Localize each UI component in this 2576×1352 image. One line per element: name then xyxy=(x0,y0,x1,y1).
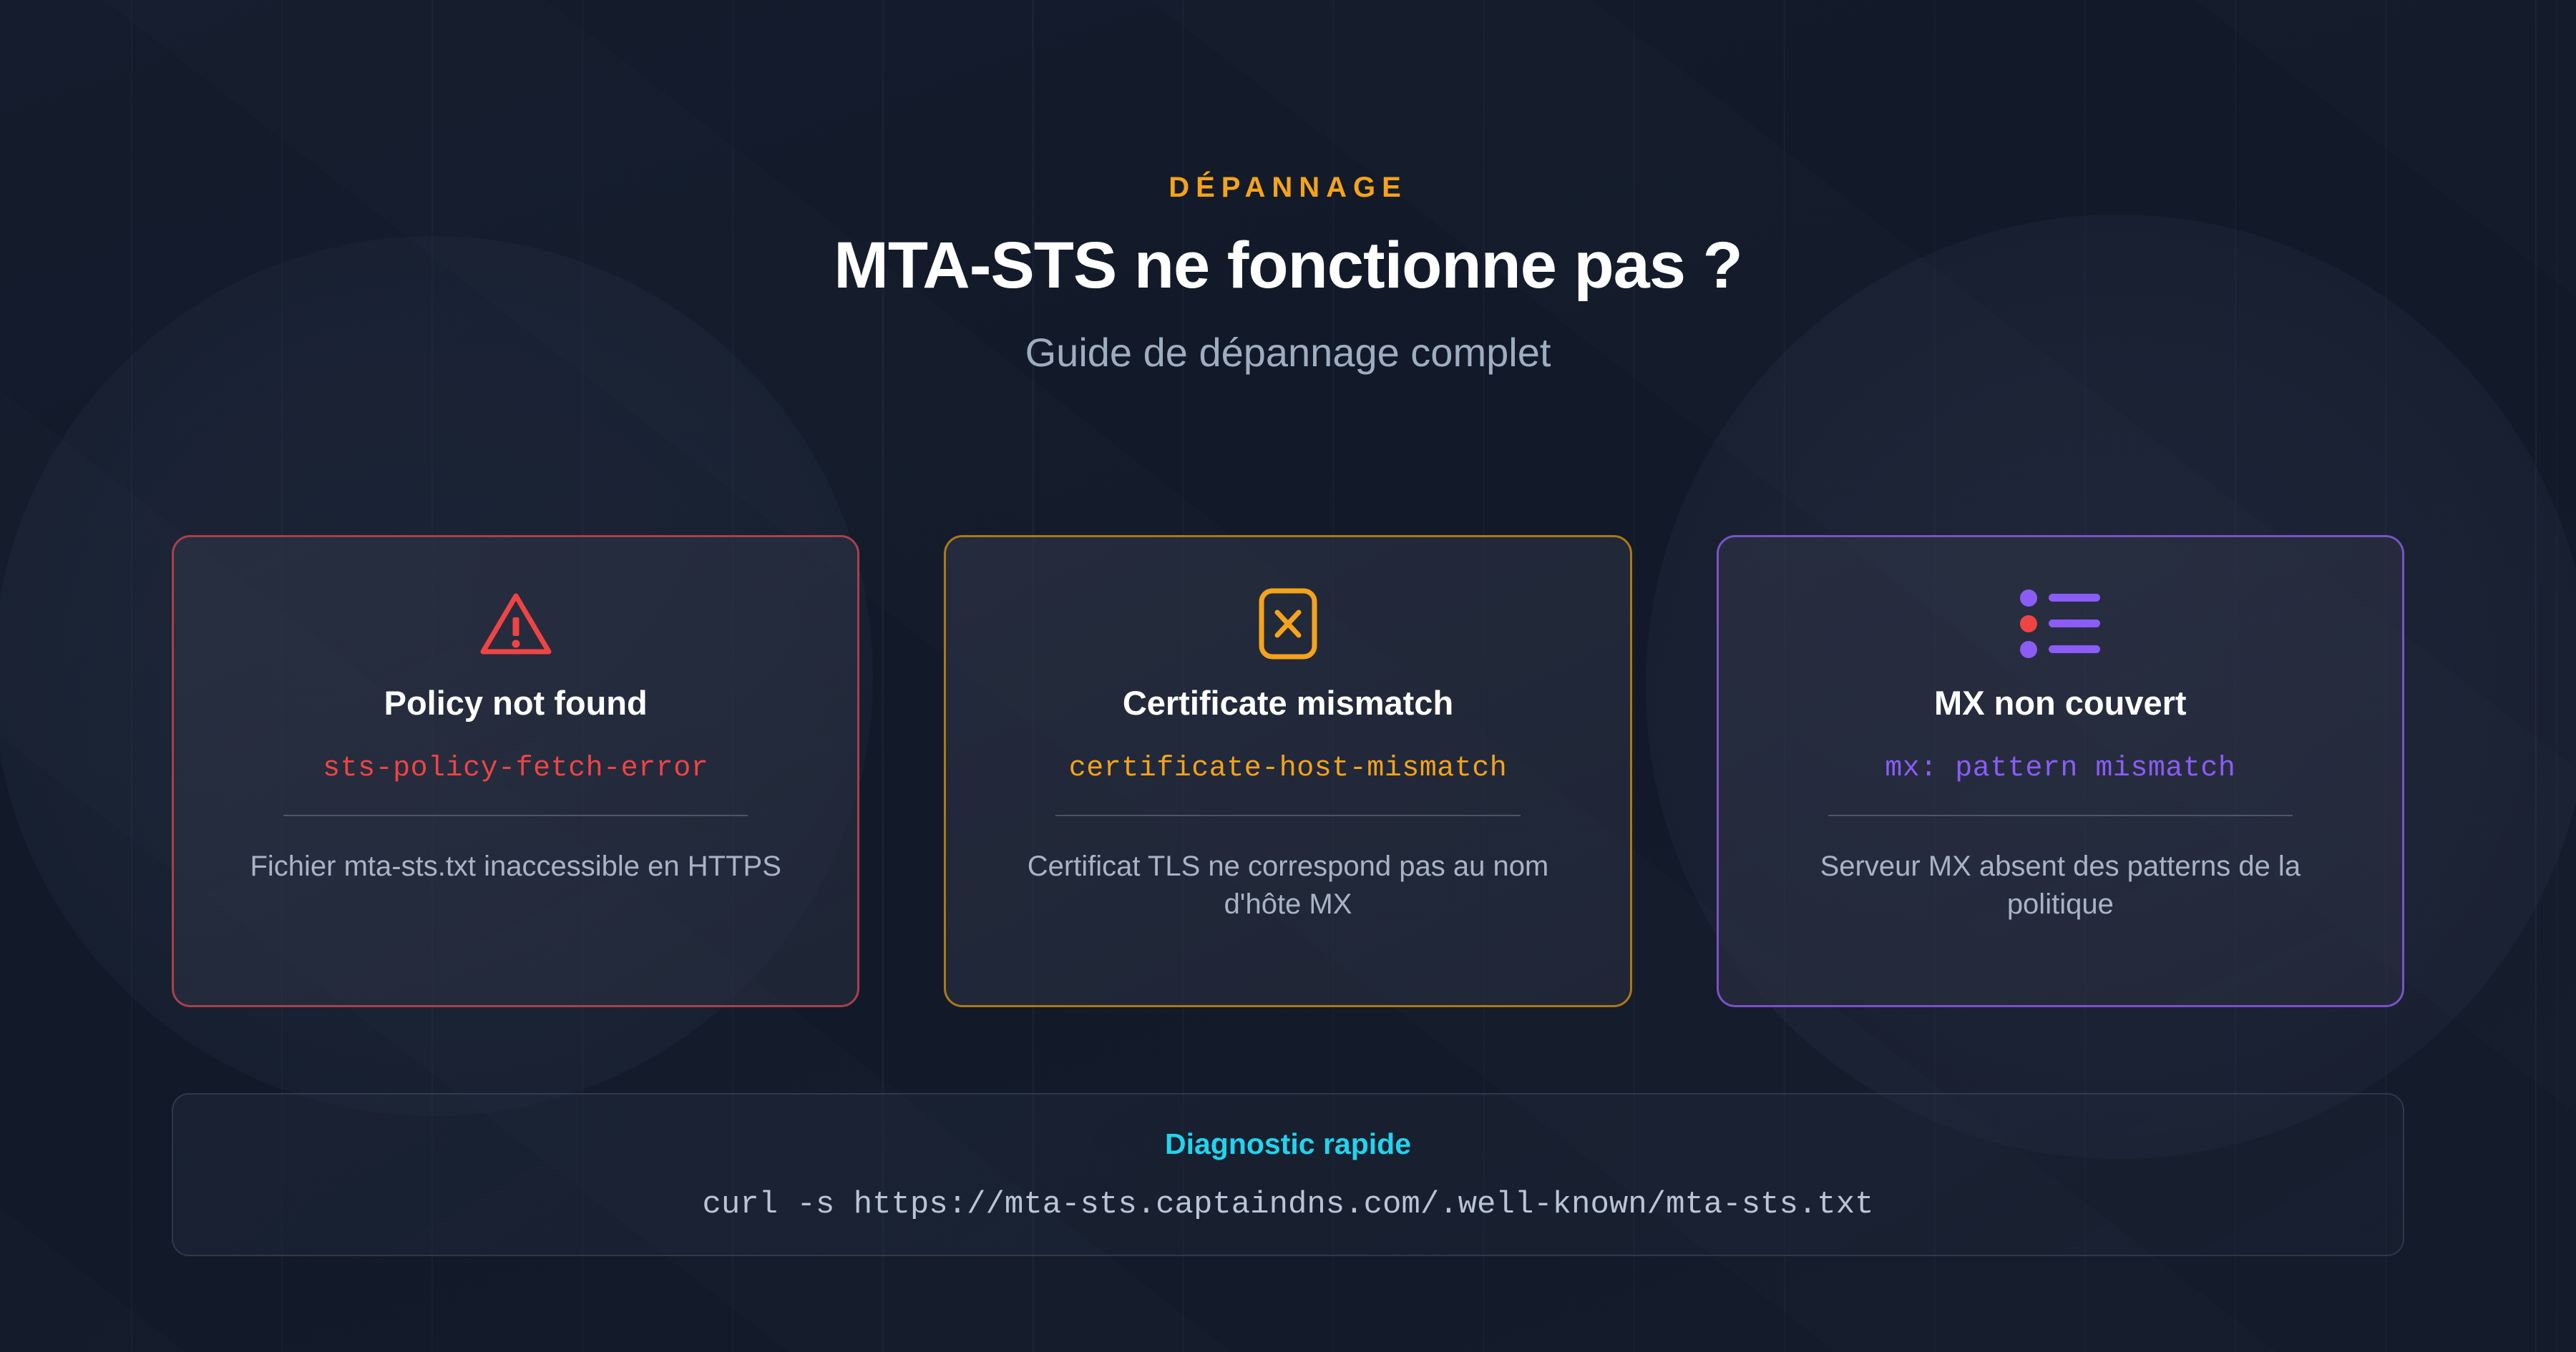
document-x-icon xyxy=(1258,584,1318,663)
page-header: DÉPANNAGE MTA-STS ne fonctionne pas ? Gu… xyxy=(0,172,2576,376)
card-divider xyxy=(1828,815,2293,816)
card-description: Serveur MX absent des patterns de la pol… xyxy=(1794,848,2327,924)
card-error-code: certificate-host-mismatch xyxy=(1069,753,1508,785)
quick-diagnostic-panel: Diagnostic rapide curl -s https://mta-st… xyxy=(172,1093,2404,1256)
page-root: DÉPANNAGE MTA-STS ne fonctionne pas ? Gu… xyxy=(0,0,2576,1352)
error-card-mx-not-covered[interactable]: MX non couvert mx: pattern mismatch Serv… xyxy=(1717,535,2404,1007)
page-title: MTA-STS ne fonctionne pas ? xyxy=(0,228,2576,303)
diagnostic-command[interactable]: curl -s https://mta-sts.captaindns.com/.… xyxy=(702,1187,1873,1223)
card-description: Certificat TLS ne correspond pas au nom … xyxy=(1021,848,1554,924)
card-description: Fichier mta-sts.txt inaccessible en HTTP… xyxy=(250,848,781,886)
page-subtitle: Guide de dépannage complet xyxy=(0,329,2576,376)
card-error-code: mx: pattern mismatch xyxy=(1885,753,2235,785)
warning-triangle-icon xyxy=(479,584,553,663)
eyebrow-label: DÉPANNAGE xyxy=(0,172,2576,204)
error-cards-row: Policy not found sts-policy-fetch-error … xyxy=(172,535,2404,1007)
card-error-code: sts-policy-fetch-error xyxy=(323,753,708,785)
error-card-certificate-mismatch[interactable]: Certificate mismatch certificate-host-mi… xyxy=(944,535,1631,1007)
error-card-policy-not-found[interactable]: Policy not found sts-policy-fetch-error … xyxy=(172,535,859,1007)
card-title: Certificate mismatch xyxy=(1123,683,1453,722)
card-title: Policy not found xyxy=(384,683,648,722)
card-divider xyxy=(283,815,748,816)
list-items-icon xyxy=(2017,584,2103,663)
card-title: MX non couvert xyxy=(1934,683,2187,722)
card-divider xyxy=(1055,815,1521,816)
diagnostic-title: Diagnostic rapide xyxy=(1165,1127,1411,1161)
